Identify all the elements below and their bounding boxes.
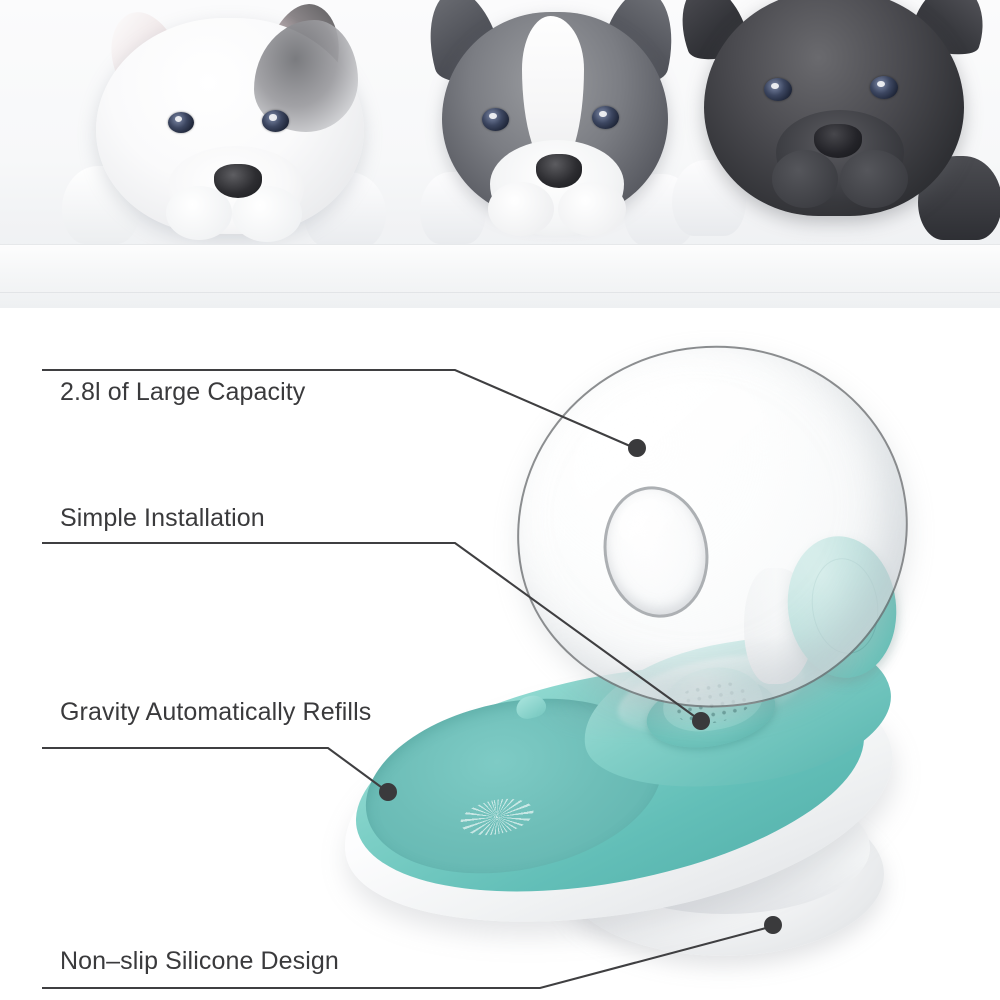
eye [262,110,289,132]
callout-label-nonslip: Non–slip Silicone Design [60,947,339,976]
jowl [558,182,626,236]
eye [592,106,619,129]
product-illustration [330,330,930,970]
puppy-white [18,0,438,252]
eye [168,112,194,133]
hero-photo [0,0,1000,308]
callout-label-installation: Simple Installation [60,504,265,533]
white-ledge [0,244,1000,308]
callout-label-capacity: 2.8l of Large Capacity [60,378,305,407]
eye [870,76,898,99]
eye [764,78,792,101]
eye [482,108,509,131]
ledge-seam [0,292,1000,293]
puppy-pied-grey [416,0,716,252]
jowl [840,150,908,208]
callout-label-gravity: Gravity Automatically Refills [60,698,371,727]
puppy-dark-brindle [672,0,1000,252]
jowl [772,150,838,208]
infographic-page: 2.8l of Large Capacity Simple Installati… [0,0,1000,1000]
jowl [488,182,554,236]
